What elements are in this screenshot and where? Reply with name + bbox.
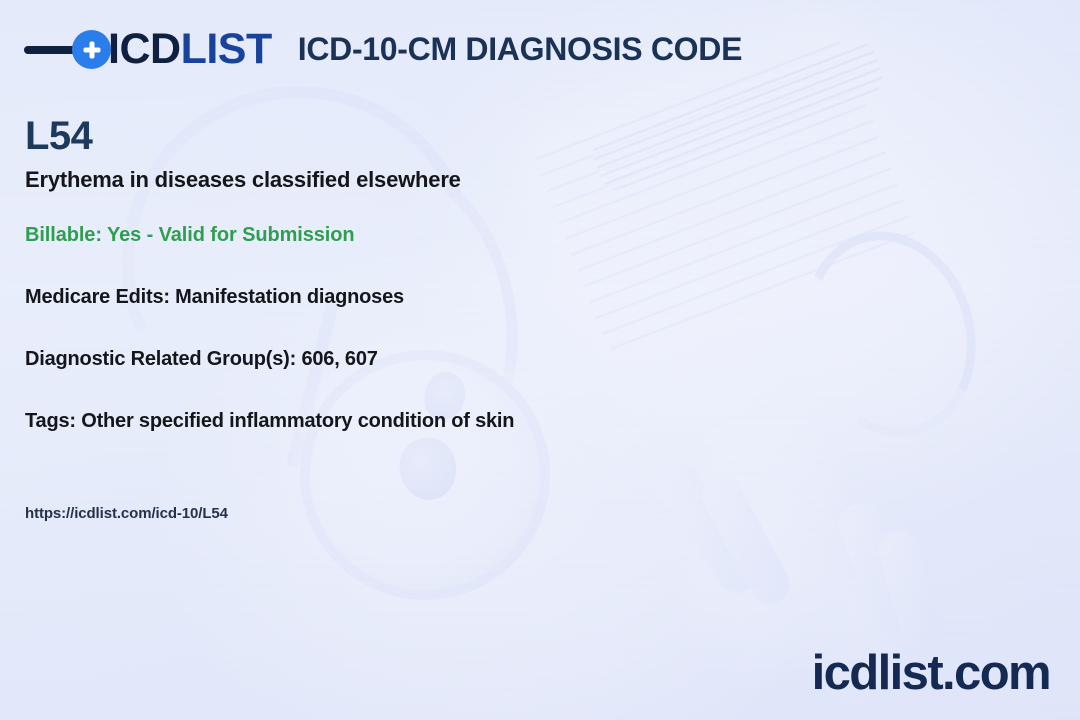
logo-word-list: LIST [181, 25, 272, 73]
icd-code-card: ICDLIST ICD-10-CM DIAGNOSIS CODE L54 Ery… [0, 0, 1080, 720]
plus-icon-vertical-bar [89, 41, 94, 58]
plus-circle-icon [72, 30, 111, 69]
diagnostic-related-groups: Diagnostic Related Group(s): 606, 607 [25, 348, 378, 371]
brand-wordmark: icdlist.com [812, 649, 1050, 698]
page-title: ICD-10-CM DIAGNOSIS CODE [298, 31, 742, 68]
logo-wordmark: ICDLIST [108, 28, 272, 71]
medicare-edits: Medicare Edits: Manifestation diagnoses [25, 286, 404, 309]
diagnosis-description: Erythema in diseases classified elsewher… [25, 167, 461, 193]
billable-status: Billable: Yes - Valid for Submission [25, 224, 354, 247]
card-content: ICDLIST ICD-10-CM DIAGNOSIS CODE L54 Ery… [0, 0, 1080, 720]
logo-word-icd: ICD [108, 25, 181, 73]
dash-icon [24, 46, 76, 54]
source-url[interactable]: https://icdlist.com/icd-10/L54 [25, 505, 228, 522]
tags: Tags: Other specified inflammatory condi… [25, 410, 514, 433]
icdlist-logo[interactable]: ICDLIST [24, 28, 272, 71]
diagnosis-code: L54 [25, 116, 92, 156]
card-header: ICDLIST ICD-10-CM DIAGNOSIS CODE [24, 28, 742, 71]
